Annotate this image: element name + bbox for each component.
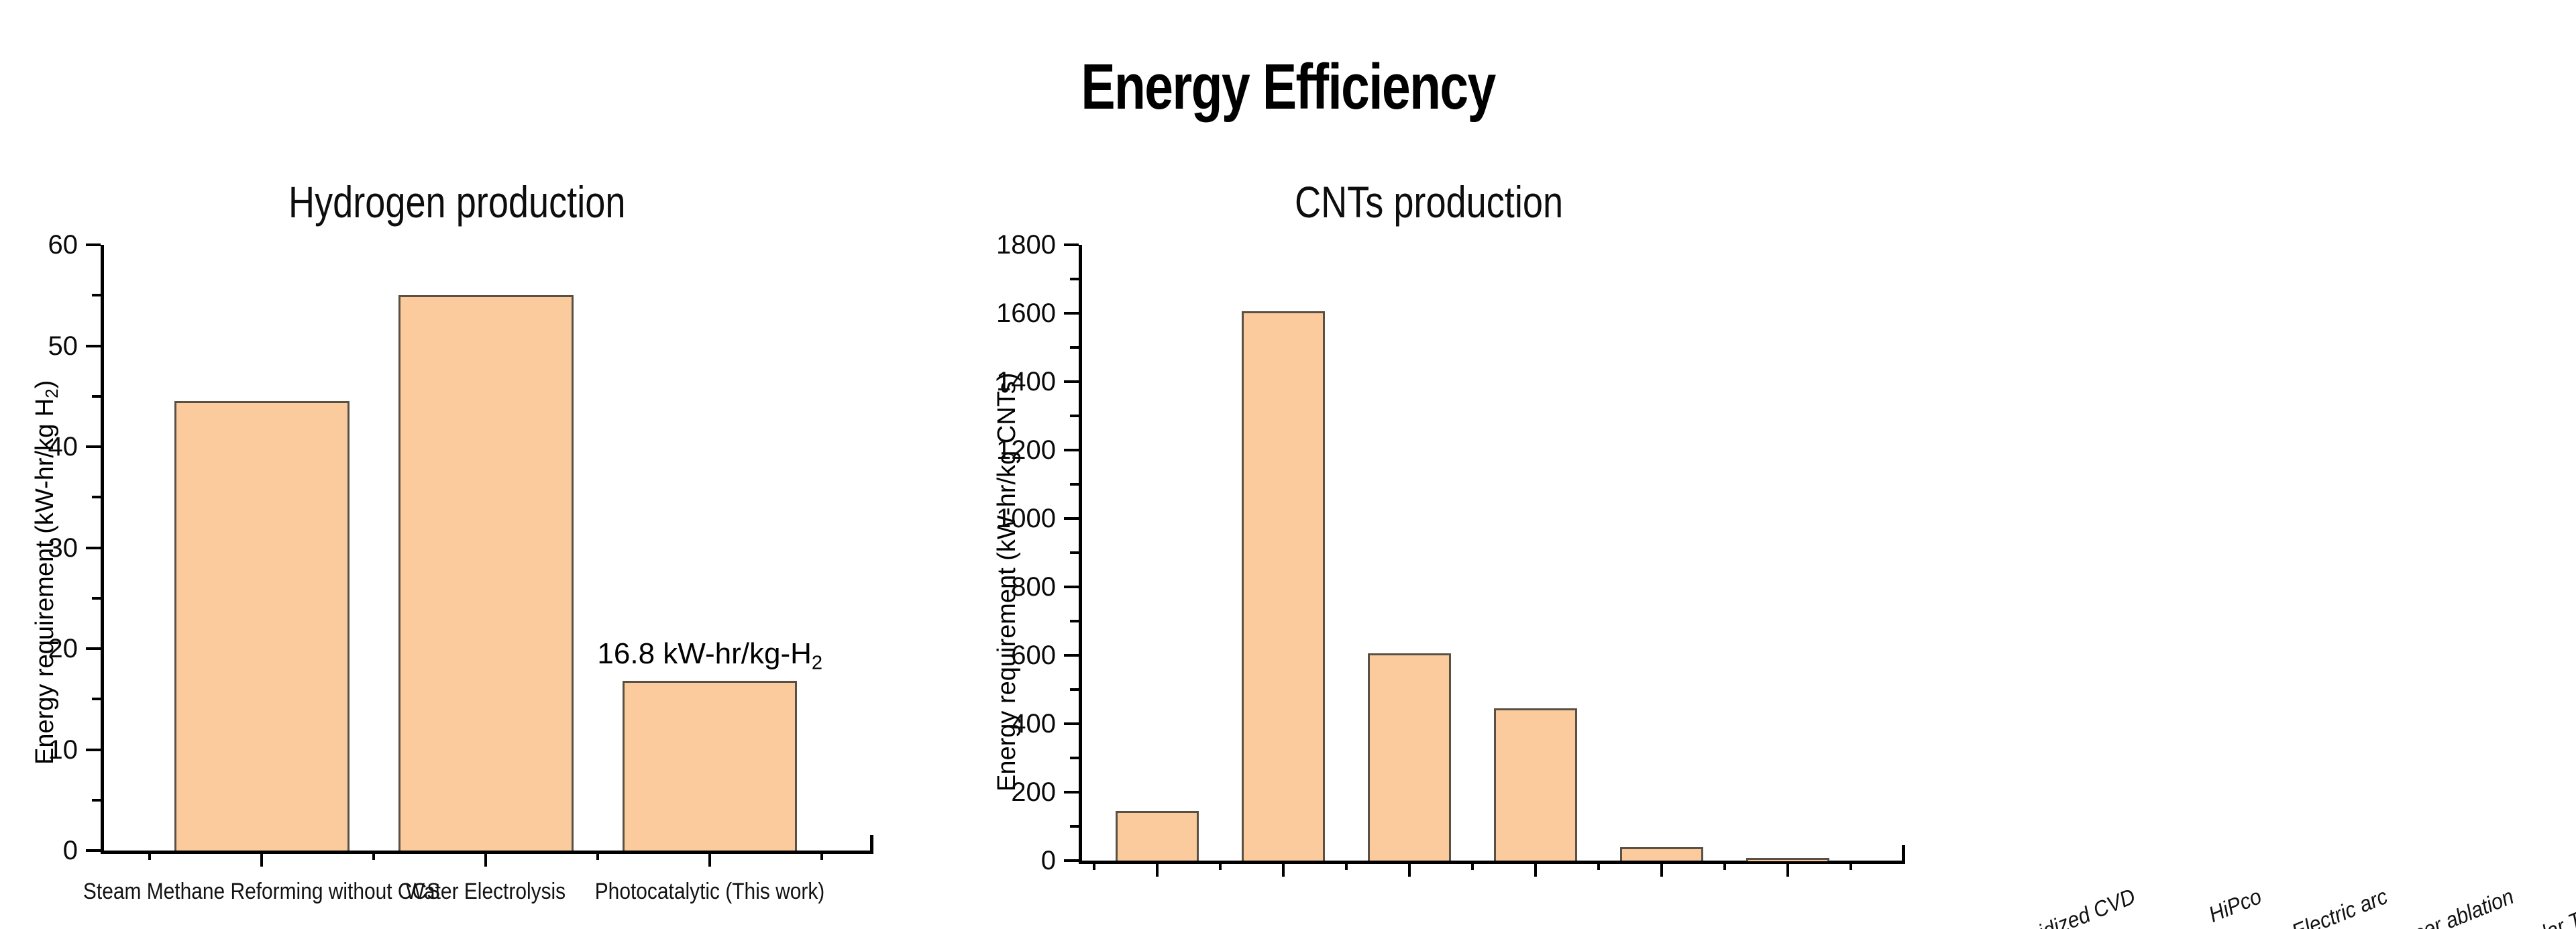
bar: [174, 401, 349, 851]
y-tick-label: 400: [1011, 710, 1056, 737]
x-tick-minor: [1849, 861, 1852, 870]
y-tick-label: 1800: [996, 231, 1056, 258]
y-tick-label: 20: [48, 635, 78, 662]
x-tick-major: [1282, 861, 1285, 877]
y-tick-minor: [1070, 551, 1079, 554]
y-tick-minor: [92, 496, 101, 498]
x-tick-minor: [1723, 861, 1726, 870]
y-tick-label: 0: [63, 837, 78, 864]
y-tick-minor: [1070, 825, 1079, 828]
y-tick-major: [1064, 312, 1079, 315]
y-tick-major: [86, 547, 101, 549]
x-axis-endcap-cnts: [1902, 845, 1905, 864]
y-axis-label-tail: ): [31, 380, 59, 389]
figure-canvas: Energy Efficiency Hydrogen production En…: [0, 0, 2576, 929]
y-tick-minor: [1070, 346, 1079, 349]
y-tick-major: [1064, 722, 1079, 725]
chart-title-hydrogen: Hydrogen production: [288, 180, 625, 224]
bar: [1746, 858, 1829, 861]
y-tick-major: [1064, 586, 1079, 588]
x-tick-major: [484, 851, 487, 867]
x-tick-minor: [1345, 861, 1348, 870]
y-tick-minor: [1070, 757, 1079, 759]
y-tick-minor: [92, 597, 101, 600]
x-tick-minor: [1219, 861, 1222, 870]
y-tick-major: [86, 749, 101, 751]
y-tick-major: [1064, 243, 1079, 246]
y-tick-minor: [1070, 620, 1079, 622]
y-tick-label: 600: [1011, 642, 1056, 669]
x-tick-major: [260, 851, 263, 867]
x-category-label: Fluidized CVD: [1935, 885, 2138, 929]
bar: [623, 681, 797, 851]
y-tick-minor: [92, 799, 101, 802]
y-tick-major: [86, 647, 101, 650]
bar: [1494, 708, 1577, 861]
x-tick-minor: [372, 851, 375, 860]
plot-area-cnts: 020040060080010001200140016001800: [1079, 245, 1905, 861]
x-axis-endcap-hydrogen: [870, 835, 873, 854]
plot-area-hydrogen: 0102030405060: [101, 245, 873, 851]
y-tick-minor: [92, 698, 101, 700]
x-tick-minor: [1093, 861, 1095, 870]
x-category-label: Photocatalytic (This work): [474, 880, 946, 903]
x-tick-major: [1534, 861, 1537, 877]
y-tick-label: 1000: [996, 505, 1056, 532]
y-tick-major: [1064, 654, 1079, 657]
y-tick-label: 0: [1041, 847, 1056, 874]
x-tick-major: [1408, 861, 1411, 877]
y-tick-major: [1064, 791, 1079, 794]
y-tick-major: [1064, 449, 1079, 451]
y-tick-minor: [92, 395, 101, 398]
y-tick-label: 10: [48, 736, 78, 763]
x-tick-major: [1156, 861, 1159, 877]
y-tick-major: [1064, 380, 1079, 383]
x-tick-major: [708, 851, 711, 867]
bar: [1620, 847, 1703, 861]
bar: [1242, 311, 1325, 861]
bar-value-annotation: 7.4 kW-hr/kg-CNT: [2485, 812, 2576, 842]
chart-panel-hydrogen: Hydrogen production Energy requirement (…: [0, 0, 1006, 929]
y-tick-label: 50: [48, 333, 78, 360]
bar-value-annotation: 16.8 kW-hr/kg-H2: [428, 639, 991, 673]
annotation-text: 16.8 kW-hr/kg-H: [597, 637, 812, 670]
y-tick-major: [86, 849, 101, 852]
y-tick-label: 1200: [996, 437, 1056, 463]
y-tick-label: 200: [1011, 779, 1056, 806]
y-tick-major: [86, 243, 101, 246]
annotation-subscript: 2: [812, 653, 822, 674]
chart-title-cnts: CNTs production: [1295, 180, 1563, 224]
x-tick-minor: [1471, 861, 1474, 870]
bar: [398, 295, 573, 851]
y-axis-line-cnts: [1079, 245, 1082, 864]
x-tick-minor: [820, 851, 823, 860]
y-tick-label: 60: [48, 231, 78, 258]
bar: [1368, 653, 1451, 861]
y-tick-label: 1600: [996, 300, 1056, 327]
y-tick-major: [1064, 859, 1079, 862]
y-tick-label: 1400: [996, 368, 1056, 395]
x-tick-minor: [148, 851, 151, 860]
y-axis-label-subscript: 2: [43, 388, 62, 398]
y-tick-minor: [1070, 483, 1079, 486]
x-tick-minor: [1597, 861, 1600, 870]
chart-panel-cnts: CNTs production Energy requirement (kW-h…: [966, 0, 2576, 929]
y-tick-major: [86, 445, 101, 448]
bar: [1116, 811, 1199, 861]
x-tick-minor: [596, 851, 599, 860]
y-tick-major: [1064, 517, 1079, 520]
x-tick-major: [1786, 861, 1789, 877]
y-tick-label: 800: [1011, 573, 1056, 600]
y-tick-minor: [92, 294, 101, 296]
y-tick-minor: [1070, 688, 1079, 691]
y-axis-line-hydrogen: [101, 245, 104, 854]
x-tick-major: [1660, 861, 1663, 877]
y-tick-label: 30: [48, 535, 78, 561]
y-tick-minor: [1070, 415, 1079, 417]
y-tick-major: [86, 345, 101, 347]
y-tick-label: 40: [48, 433, 78, 460]
y-tick-minor: [1070, 278, 1079, 280]
